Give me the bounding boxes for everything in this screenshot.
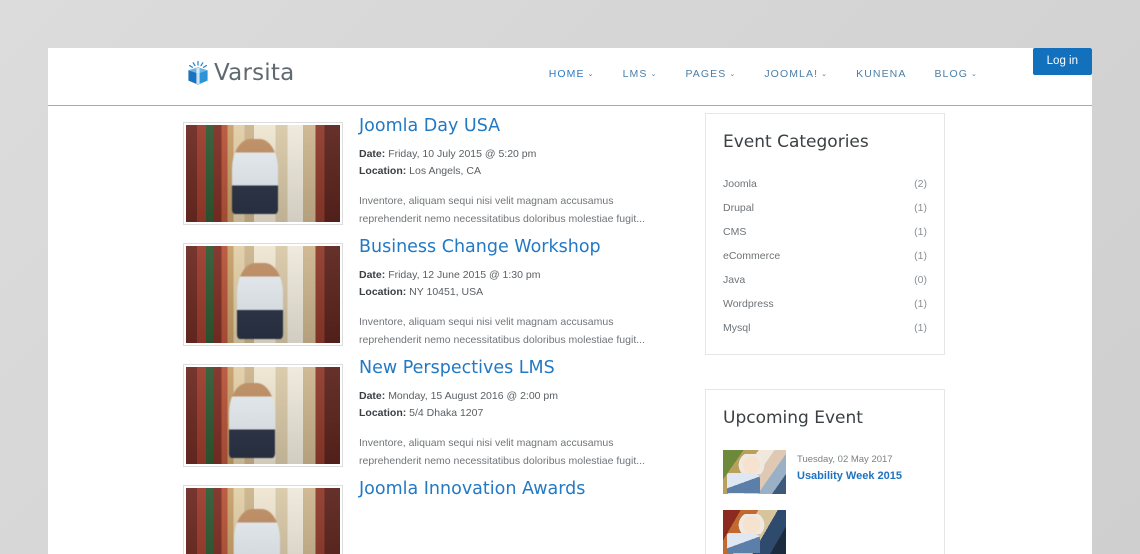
category-count: (1)	[914, 322, 927, 334]
chevron-down-icon: ⌄	[650, 71, 657, 78]
category-label: CMS	[723, 226, 746, 238]
event-location-line: Location: 5/4 Dhaka 1207	[359, 405, 703, 422]
site-brand[interactable]: Varsita	[186, 60, 294, 86]
category-label: Drupal	[723, 202, 754, 214]
chevron-down-icon: ⌄	[729, 71, 736, 78]
nav-item-label: BLOG	[934, 68, 968, 80]
page-content: Joomla Day USA Date: Friday, 10 July 201…	[48, 106, 1092, 554]
nav-item-label: HOME	[549, 68, 585, 80]
event-location: Los Angels, CA	[409, 165, 481, 177]
event-date-line: Date: Friday, 12 June 2015 @ 1:30 pm	[359, 267, 703, 284]
event-title[interactable]: Joomla Innovation Awards	[359, 479, 703, 501]
nav-item-blog[interactable]: BLOG⌄	[920, 68, 992, 80]
category-label: Java	[723, 274, 745, 286]
woman-reading-book-photo[interactable]	[723, 450, 786, 494]
category-row-drupal[interactable]: Drupal (1)	[723, 196, 927, 220]
event-date-line: Date: Monday, 15 August 2016 @ 2:00 pm	[359, 388, 703, 405]
event-location-line: Location: Los Angels, CA	[359, 163, 703, 180]
upcoming-event-module: Upcoming Event Tuesday, 02 May 2017 Usab…	[705, 389, 945, 554]
student-in-library-photo	[186, 367, 340, 464]
category-count: (0)	[914, 274, 927, 286]
module-title: Upcoming Event	[723, 408, 927, 428]
chevron-down-icon: ⌄	[588, 71, 595, 78]
library-shelf-photo[interactable]	[723, 510, 786, 554]
event-thumbnail[interactable]	[183, 364, 343, 467]
category-label: Mysql	[723, 322, 750, 334]
event-location: NY 10451, USA	[409, 286, 483, 298]
site-header: Varsita HOME⌄ LMS⌄ PAGES⌄ JOOMLA!⌄ KUNEN…	[48, 48, 1092, 106]
date-label: Date:	[359, 269, 385, 281]
category-count: (1)	[914, 250, 927, 262]
date-label: Date:	[359, 148, 385, 160]
student-in-library-photo	[186, 488, 340, 554]
nav-item-label: JOOMLA!	[764, 68, 818, 80]
gift-box-logo-icon	[186, 60, 210, 86]
login-button[interactable]: Log in	[1033, 48, 1092, 75]
category-label: eCommerce	[723, 250, 780, 262]
category-count: (1)	[914, 202, 927, 214]
upcoming-event-title[interactable]: Usability Week 2015	[797, 470, 902, 482]
module-title: Event Categories	[723, 132, 927, 152]
event-description: Inventore, aliquam sequi nisi velit magn…	[359, 192, 669, 229]
event-item: Business Change Workshop Date: Friday, 1…	[183, 237, 703, 357]
category-row-wordpress[interactable]: Wordpress (1)	[723, 292, 927, 316]
event-item: Joomla Innovation Awards	[183, 479, 703, 554]
event-item: Joomla Day USA Date: Friday, 10 July 201…	[183, 116, 703, 236]
student-in-library-photo	[186, 125, 340, 222]
nav-item-label: PAGES	[685, 68, 726, 80]
upcoming-event-item[interactable]: Tuesday, 02 May 2017 Usability Week 2015	[723, 448, 927, 508]
sidebar: Event Categories Joomla (2) Drupal (1) C…	[705, 113, 945, 554]
category-row-java[interactable]: Java (0)	[723, 268, 927, 292]
event-date: Friday, 10 July 2015 @ 5:20 pm	[388, 148, 536, 160]
upcoming-event-item[interactable]	[723, 508, 927, 554]
event-thumbnail[interactable]	[183, 122, 343, 225]
nav-item-label: KUNENA	[856, 68, 906, 80]
event-description: Inventore, aliquam sequi nisi velit magn…	[359, 313, 669, 350]
location-label: Location:	[359, 286, 406, 298]
nav-item-label: LMS	[623, 68, 648, 80]
event-description: Inventore, aliquam sequi nisi velit magn…	[359, 434, 669, 471]
category-label: Wordpress	[723, 298, 774, 310]
category-count: (1)	[914, 298, 927, 310]
event-thumbnail[interactable]	[183, 243, 343, 346]
upcoming-event-date: Tuesday, 02 May 2017	[797, 454, 902, 465]
nav-item-kunena[interactable]: KUNENA	[842, 68, 920, 80]
main-navigation: HOME⌄ LMS⌄ PAGES⌄ JOOMLA!⌄ KUNENA BLOG⌄	[535, 68, 992, 80]
student-in-library-photo	[186, 246, 340, 343]
category-row-mysql[interactable]: Mysql (1)	[723, 316, 927, 340]
location-label: Location:	[359, 165, 406, 177]
event-title[interactable]: Business Change Workshop	[359, 237, 703, 259]
event-title[interactable]: New Perspectives LMS	[359, 358, 703, 380]
event-date-line: Date: Friday, 10 July 2015 @ 5:20 pm	[359, 146, 703, 163]
nav-item-lms[interactable]: LMS⌄	[609, 68, 672, 80]
event-location: 5/4 Dhaka 1207	[409, 407, 483, 419]
nav-item-pages[interactable]: PAGES⌄	[671, 68, 750, 80]
category-row-joomla[interactable]: Joomla (2)	[723, 172, 927, 196]
location-label: Location:	[359, 407, 406, 419]
event-title[interactable]: Joomla Day USA	[359, 116, 703, 138]
nav-item-joomla[interactable]: JOOMLA!⌄	[750, 68, 842, 80]
event-item: New Perspectives LMS Date: Monday, 15 Au…	[183, 358, 703, 478]
category-count: (2)	[914, 178, 927, 190]
event-list: Joomla Day USA Date: Friday, 10 July 201…	[183, 116, 703, 554]
event-thumbnail[interactable]	[183, 485, 343, 554]
event-date: Monday, 15 August 2016 @ 2:00 pm	[388, 390, 558, 402]
category-row-cms[interactable]: CMS (1)	[723, 220, 927, 244]
nav-item-home[interactable]: HOME⌄	[535, 68, 609, 80]
chevron-down-icon: ⌄	[821, 71, 828, 78]
date-label: Date:	[359, 390, 385, 402]
category-label: Joomla	[723, 178, 757, 190]
category-row-ecommerce[interactable]: eCommerce (1)	[723, 244, 927, 268]
event-location-line: Location: NY 10451, USA	[359, 284, 703, 301]
brand-name: Varsita	[214, 60, 294, 86]
event-categories-module: Event Categories Joomla (2) Drupal (1) C…	[705, 113, 945, 355]
event-date: Friday, 12 June 2015 @ 1:30 pm	[388, 269, 540, 281]
chevron-down-icon: ⌄	[971, 71, 978, 78]
category-count: (1)	[914, 226, 927, 238]
browser-page: Varsita HOME⌄ LMS⌄ PAGES⌄ JOOMLA!⌄ KUNEN…	[48, 48, 1092, 554]
